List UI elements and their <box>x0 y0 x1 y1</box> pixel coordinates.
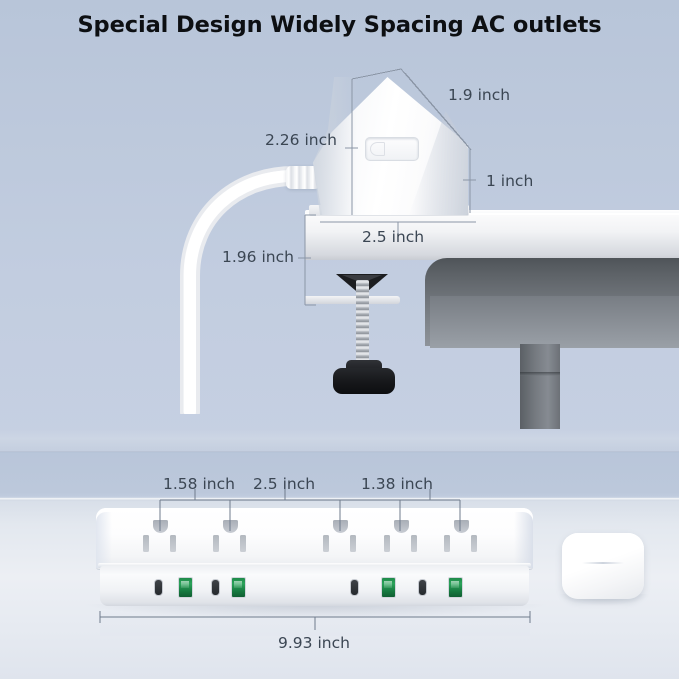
dimension-label-outlet-gap-3: 1.38 inch <box>361 475 433 493</box>
outlet-slot-left <box>143 535 149 552</box>
usb-a-port-3[interactable] <box>381 577 396 598</box>
outlet-slot-left <box>323 535 329 552</box>
ac-outlet-3[interactable] <box>320 520 360 552</box>
power-switch-indicator-icon <box>370 142 385 156</box>
earbuds-case <box>562 533 644 599</box>
clamp-bottom-plate <box>305 296 400 304</box>
dimension-label-clamp-opening: 1.96 inch <box>222 248 294 266</box>
ac-outlet-2[interactable] <box>210 520 250 552</box>
power-strip-reflection <box>100 610 530 636</box>
outlet-ground-hole-icon <box>333 520 348 533</box>
usb-a-port-4[interactable] <box>448 577 463 598</box>
outlet-slot-right <box>471 535 477 552</box>
usb-c-port-2[interactable] <box>211 579 220 596</box>
outlet-slot-right <box>411 535 417 552</box>
usb-a-port-2[interactable] <box>231 577 246 598</box>
usb-c-port-3[interactable] <box>350 579 359 596</box>
desk-leg <box>520 344 560 429</box>
power-cable <box>176 164 306 414</box>
usb-a-port-1[interactable] <box>178 577 193 598</box>
power-strip-front-face <box>100 566 529 606</box>
outlet-ground-hole-icon <box>394 520 409 533</box>
infographic-canvas: Special Design Widely Spacing AC outlets <box>0 0 679 679</box>
outlet-slot-right <box>240 535 246 552</box>
bottom-panel-floor-line <box>0 498 679 501</box>
dimension-label-outlet-gap-1: 1.58 inch <box>163 475 235 493</box>
outlet-slot-left <box>384 535 390 552</box>
outlet-ground-hole-icon <box>153 520 168 533</box>
dimension-label-plug-width: 2.26 inch <box>265 131 337 149</box>
dimension-label-plug-lower-height: 1 inch <box>486 172 533 190</box>
panel-divider <box>0 451 679 453</box>
power-strip <box>96 508 533 610</box>
ac-outlet-4[interactable] <box>381 520 421 552</box>
ac-outlet-1[interactable] <box>140 520 180 552</box>
outlet-slot-right <box>170 535 176 552</box>
usb-c-port-4[interactable] <box>418 579 427 596</box>
ac-outlet-5[interactable] <box>441 520 481 552</box>
usb-c-port-1[interactable] <box>154 579 163 596</box>
desk-underside-lower <box>430 296 679 348</box>
page-title: Special Design Widely Spacing AC outlets <box>0 12 679 38</box>
desk-leg-joint <box>520 372 560 376</box>
power-strip-left-bevel <box>96 512 112 568</box>
earbuds-case-seam <box>582 562 624 564</box>
dimension-label-plug-angled-edge: 1.9 inch <box>448 86 510 104</box>
clamp-knob <box>333 368 395 394</box>
outlet-ground-hole-icon <box>454 520 469 533</box>
top-panel-horizon <box>0 428 679 452</box>
dimension-label-strip-total-length: 9.93 inch <box>278 634 350 652</box>
outlet-slot-left <box>213 535 219 552</box>
power-strip-right-bevel <box>514 512 533 568</box>
dimension-label-desk-depth: 2.5 inch <box>362 228 424 246</box>
outlet-slot-right <box>350 535 356 552</box>
dimension-label-outlet-gap-2: 2.5 inch <box>253 475 315 493</box>
outlet-ground-hole-icon <box>223 520 238 533</box>
outlet-slot-left <box>444 535 450 552</box>
